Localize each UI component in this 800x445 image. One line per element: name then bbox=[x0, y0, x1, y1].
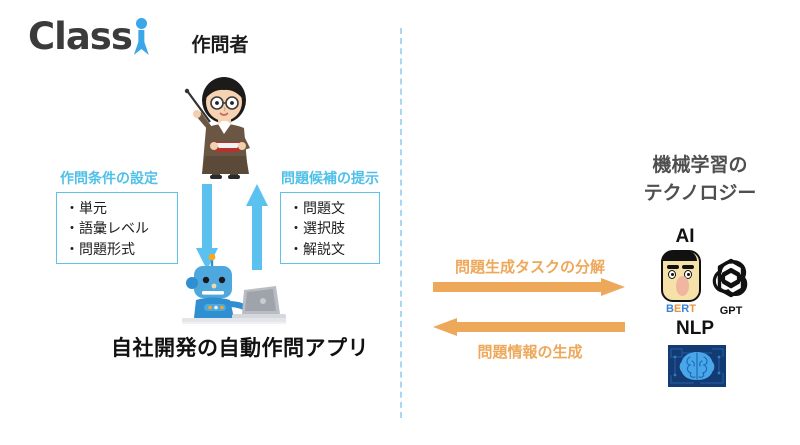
logo-i-ribbon-icon bbox=[133, 16, 149, 56]
arrow-left-icon bbox=[433, 318, 625, 336]
page-title-creator: 作問者 bbox=[150, 30, 290, 57]
panel-heading-candidates: 問題候補の提示 bbox=[281, 168, 379, 188]
gpt-logo: GPT bbox=[707, 256, 755, 317]
candidates-list: 問題文 選択肢 解説文 bbox=[289, 199, 369, 260]
openai-knot-icon bbox=[709, 256, 753, 300]
list-item: 選択肢 bbox=[289, 219, 369, 239]
bert-letter: B bbox=[666, 303, 674, 315]
logo-i-dot bbox=[136, 18, 147, 29]
vertical-dashed-divider bbox=[400, 28, 402, 418]
teacher-icon bbox=[172, 70, 268, 180]
bert-brow-left bbox=[667, 265, 679, 269]
panel-candidates: 問題文 選択肢 解説文 bbox=[280, 192, 380, 264]
label-bert: BERT bbox=[658, 303, 704, 315]
panel-heading-conditions: 作問条件の設定 bbox=[60, 168, 158, 188]
label-decompose: 問題生成タスクの分解 bbox=[425, 256, 635, 277]
panel-conditions: 単元 語彙レベル 問題形式 bbox=[56, 192, 178, 264]
bert-letter: T bbox=[689, 303, 696, 315]
label-nlp: NLP bbox=[660, 318, 730, 340]
arrow-right-icon bbox=[433, 278, 625, 296]
list-item: 解説文 bbox=[289, 240, 369, 260]
label-generate: 問題情報の生成 bbox=[425, 341, 635, 362]
bert-hair bbox=[662, 251, 697, 261]
bert-logo: BERT bbox=[658, 250, 704, 315]
bert-brow-right bbox=[682, 265, 694, 269]
list-item: 語彙レベル bbox=[65, 219, 167, 239]
nlp-brain-image bbox=[668, 345, 726, 387]
ml-title-line2: テクノロジー bbox=[605, 180, 795, 208]
ml-title-line1: 機械学習の bbox=[652, 154, 747, 176]
label-ai: AI bbox=[655, 226, 715, 248]
brain-circuit-icon bbox=[668, 345, 726, 387]
list-item: 単元 bbox=[65, 199, 167, 219]
caption-app: 自社開発の自動作問アプリ bbox=[80, 332, 400, 362]
slide-canvas: Class 作問者 bbox=[0, 0, 800, 445]
bert-nose bbox=[676, 276, 689, 296]
bert-eye-left bbox=[668, 270, 676, 279]
robot-laptop-illustration bbox=[168, 254, 286, 332]
list-item: 問題文 bbox=[289, 199, 369, 219]
conditions-list: 単元 語彙レベル 問題形式 bbox=[65, 199, 167, 260]
robot-icon bbox=[168, 254, 286, 332]
logo-i-ribbon bbox=[134, 30, 149, 55]
list-item: 問題形式 bbox=[65, 240, 167, 260]
classi-logo: Class bbox=[28, 14, 149, 58]
teacher-illustration bbox=[172, 70, 268, 180]
label-gpt: GPT bbox=[707, 305, 755, 317]
page-title-ml: 機械学習の テクノロジー bbox=[605, 152, 795, 207]
logo-wordmark: Class bbox=[28, 18, 132, 55]
bert-face-icon bbox=[661, 250, 701, 302]
